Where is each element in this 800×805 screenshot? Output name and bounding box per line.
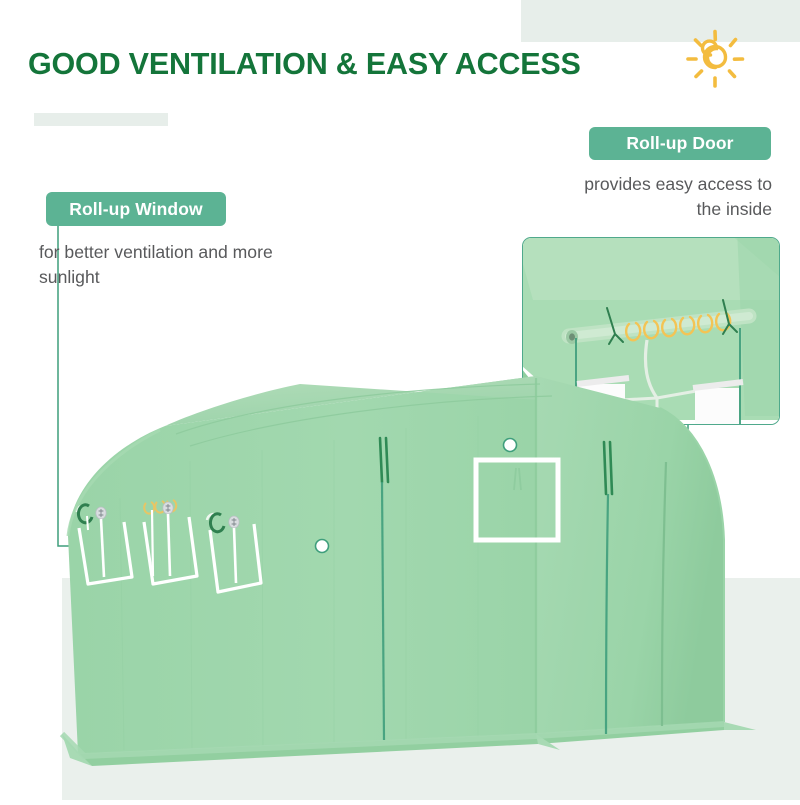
top-decorative-band [521, 0, 800, 42]
sun-icon [676, 18, 754, 96]
callout-badge-roll-up-door: Roll-up Door [589, 127, 771, 160]
callout-text-roll-up-door: provides easy access to the inside [565, 172, 772, 222]
title-underbar [34, 113, 168, 126]
callout-badge-roll-up-window: Roll-up Window [46, 192, 226, 226]
infographic-canvas: GOOD VENTILATION & EASY ACCESS [0, 0, 800, 800]
callout-text-roll-up-window: for better ventilation and more sunlight [39, 240, 309, 290]
greenhouse-illustration [0, 330, 800, 800]
page-title: GOOD VENTILATION & EASY ACCESS [28, 47, 581, 82]
